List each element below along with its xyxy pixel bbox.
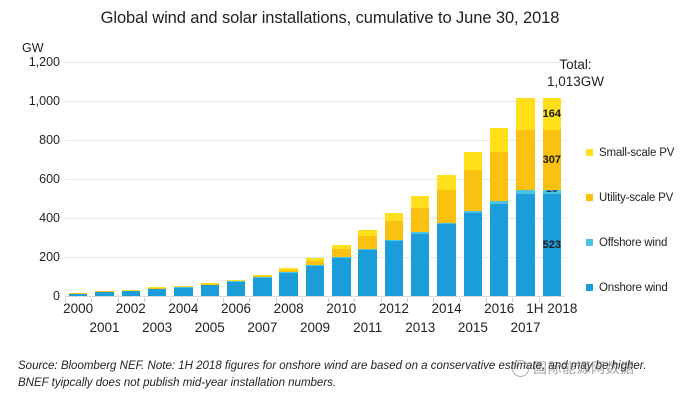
bar-column[interactable] — [227, 280, 245, 296]
x-axis-tick-mark — [223, 298, 224, 302]
y-axis-tick-label: 200 — [4, 250, 60, 264]
x-axis-tick-label: 2010 — [318, 301, 364, 316]
bar-segment[interactable] — [490, 152, 508, 202]
legend-swatch-icon — [586, 284, 593, 291]
bar-segment[interactable] — [332, 257, 350, 258]
legend-item-label: Offshore wind — [599, 237, 667, 249]
bar-segment[interactable] — [464, 211, 482, 213]
x-axis-tick-label: 2016 — [476, 301, 522, 316]
bar-segment[interactable] — [279, 270, 297, 273]
x-axis-tick-label: 2000 — [55, 301, 101, 316]
x-axis-tick-mark — [328, 298, 329, 302]
x-axis-tick-labels: 2000200120022003200420052006200720082009… — [65, 298, 565, 340]
bar-segment-value-label: 307 — [543, 154, 561, 166]
bar-segment[interactable] — [95, 291, 113, 296]
x-axis-tick-label: 2017 — [503, 320, 549, 335]
bar-segment[interactable] — [227, 280, 245, 281]
x-axis-tick-label: 2013 — [397, 320, 443, 335]
bar-segment[interactable] — [201, 284, 219, 285]
legend-item[interactable]: Small-scale PV — [586, 130, 689, 175]
bar-column[interactable] — [411, 196, 429, 296]
bar-segment[interactable] — [411, 196, 429, 208]
total-annotation-label: Total: — [547, 57, 604, 74]
x-axis-tick-mark — [144, 298, 145, 302]
bar-segment[interactable] — [332, 245, 350, 249]
bar-segment[interactable] — [411, 234, 429, 296]
legend-item[interactable]: Utility-scale PV — [586, 175, 689, 220]
x-axis-tick-mark — [539, 298, 540, 302]
y-axis-tick-label: 600 — [4, 172, 60, 186]
x-axis-tick-mark — [197, 298, 198, 302]
total-annotation-value: 1,013GW — [547, 74, 604, 91]
bar-segment[interactable] — [306, 265, 324, 296]
bar-segment[interactable] — [306, 261, 324, 265]
y-axis-tick-label: 400 — [4, 211, 60, 225]
bar-segment[interactable] — [464, 170, 482, 211]
bar-segment[interactable] — [464, 152, 482, 171]
x-axis-tick-mark — [118, 298, 119, 302]
bar-column[interactable] — [437, 175, 455, 296]
x-axis-tick-label: 2004 — [160, 301, 206, 316]
bar-column[interactable]: 52319307164 — [543, 98, 561, 296]
bar-segment[interactable] — [201, 285, 219, 297]
bar-segment[interactable] — [358, 236, 376, 248]
y-axis-tick-label: 1,000 — [4, 94, 60, 108]
legend-item[interactable]: Offshore wind — [586, 220, 689, 265]
bar-segment[interactable] — [253, 276, 271, 277]
bar-segment[interactable] — [279, 272, 297, 296]
x-axis-tick-label: 2008 — [266, 301, 312, 316]
y-axis-tick-labels: 02004006008001,0001,200 — [0, 62, 60, 296]
y-axis-unit-label: GW — [22, 41, 44, 55]
source-note-line-1: Source: Bloomberg NEF. Note: 1H 2018 fig… — [18, 360, 608, 372]
bar-segment[interactable] — [174, 286, 192, 287]
plot-area: 52319307164 — [65, 62, 565, 296]
bar-segment[interactable] — [437, 175, 455, 190]
bar-column[interactable] — [490, 128, 508, 296]
bar-segment[interactable] — [174, 287, 192, 296]
bar-segment[interactable] — [516, 98, 534, 130]
bar-segment[interactable] — [437, 224, 455, 296]
y-axis-tick-label: 0 — [4, 289, 60, 303]
x-axis-tick-label: 2001 — [81, 320, 127, 335]
bar-segment-value-label: 164 — [543, 108, 561, 120]
x-axis-tick-label: 2007 — [239, 320, 285, 335]
x-axis-tick-mark — [460, 298, 461, 302]
bar-segment[interactable] — [490, 201, 508, 204]
bar-segment[interactable] — [385, 241, 403, 296]
x-axis-tick-mark — [91, 298, 92, 302]
bar-segment[interactable] — [201, 283, 219, 284]
legend-swatch-icon — [586, 239, 593, 246]
bar-segment[interactable]: 523 — [543, 194, 561, 296]
bar-column[interactable] — [122, 290, 140, 296]
x-axis-tick-mark — [407, 298, 408, 302]
chart-legend: Small-scale PVUtility-scale PVOffshore w… — [586, 130, 689, 310]
bar-segment-value-label: 523 — [543, 239, 561, 251]
x-axis-tick-mark — [170, 298, 171, 302]
legend-item-label: Utility-scale PV — [599, 192, 673, 204]
y-axis-tick-label: 800 — [4, 133, 60, 147]
bar-column[interactable] — [516, 98, 534, 296]
bar-segment[interactable] — [148, 288, 166, 296]
x-axis-tick-mark — [249, 298, 250, 302]
x-axis-tick-label: 1H 2018 — [520, 301, 584, 316]
x-axis-tick-mark — [512, 298, 513, 302]
bar-column[interactable] — [306, 258, 324, 296]
bar-segment[interactable]: 164 — [543, 98, 561, 130]
x-axis-tick-label: 2015 — [450, 320, 496, 335]
bar-column[interactable] — [95, 291, 113, 296]
bar-segment[interactable] — [69, 293, 87, 296]
bar-segment[interactable] — [122, 290, 140, 296]
y-axis-tick-label: 1,200 — [4, 55, 60, 69]
bar-column[interactable] — [358, 230, 376, 296]
bar-column[interactable] — [464, 152, 482, 296]
bar-segment[interactable] — [253, 278, 271, 296]
legend-item-label: Small-scale PV — [599, 147, 674, 159]
x-axis-tick-label: 2011 — [345, 320, 391, 335]
legend-swatch-icon — [586, 194, 593, 201]
x-axis-tick-mark — [276, 298, 277, 302]
bar-segment[interactable] — [516, 194, 534, 296]
chart-title: Global wind and solar installations, cum… — [0, 9, 660, 28]
x-axis-tick-mark — [486, 298, 487, 302]
bar-segment[interactable] — [490, 128, 508, 152]
bar-segment[interactable] — [411, 232, 429, 233]
bar-segment[interactable]: 307 — [543, 130, 561, 190]
gridline — [65, 296, 565, 297]
bar-segment[interactable] — [253, 275, 271, 276]
x-axis-tick-label: 2009 — [292, 320, 338, 335]
x-axis-tick-mark — [381, 298, 382, 302]
bar-column[interactable] — [174, 286, 192, 296]
bar-segment[interactable] — [227, 280, 245, 281]
bar-segment[interactable] — [358, 230, 376, 236]
bar-segment[interactable]: 19 — [543, 190, 561, 194]
bar-segment[interactable] — [464, 213, 482, 296]
x-axis-tick-label: 2012 — [371, 301, 417, 316]
bar-segment[interactable] — [490, 204, 508, 296]
bar-segment[interactable] — [411, 208, 429, 233]
x-axis-tick-label: 2014 — [424, 301, 470, 316]
bar-segment[interactable] — [227, 282, 245, 296]
total-annotation: Total: 1,013GW — [547, 57, 604, 91]
bar-column[interactable] — [385, 213, 403, 296]
bar-segment[interactable] — [332, 257, 350, 296]
bar-column[interactable] — [69, 293, 87, 297]
legend-swatch-icon — [586, 149, 593, 156]
bar-column[interactable] — [332, 245, 350, 296]
x-axis-tick-label: 2005 — [187, 320, 233, 335]
bar-column[interactable] — [201, 283, 219, 296]
bar-segment[interactable] — [306, 258, 324, 261]
bar-column[interactable] — [148, 287, 166, 296]
bar-segment[interactable] — [385, 221, 403, 240]
bar-column[interactable] — [279, 268, 297, 296]
x-axis-tick-mark — [302, 298, 303, 302]
x-axis-tick-label: 2006 — [213, 301, 259, 316]
bar-segment[interactable] — [385, 240, 403, 241]
legend-item-label: Onshore wind — [599, 282, 668, 294]
bar-segment[interactable] — [332, 249, 350, 256]
bar-segment[interactable] — [358, 249, 376, 250]
bar-segment[interactable] — [516, 130, 534, 190]
x-axis-tick-mark — [433, 298, 434, 302]
bar-segment[interactable] — [358, 250, 376, 296]
bar-segment[interactable] — [437, 190, 455, 223]
source-note: Source: Bloomberg NEF. Note: 1H 2018 fig… — [18, 358, 658, 393]
x-axis-tick-label: 2003 — [134, 320, 180, 335]
bar-segment[interactable] — [385, 213, 403, 222]
bar-segment[interactable] — [516, 190, 534, 194]
legend-item[interactable]: Onshore wind — [586, 265, 689, 310]
bar-segment[interactable] — [437, 223, 455, 225]
x-axis-tick-mark — [354, 298, 355, 302]
bars-layer: 52319307164 — [65, 62, 565, 296]
bar-segment[interactable] — [279, 268, 297, 270]
x-axis-tick-mark — [65, 298, 66, 302]
x-axis-tick-label: 2002 — [108, 301, 154, 316]
bar-column[interactable] — [253, 275, 271, 296]
